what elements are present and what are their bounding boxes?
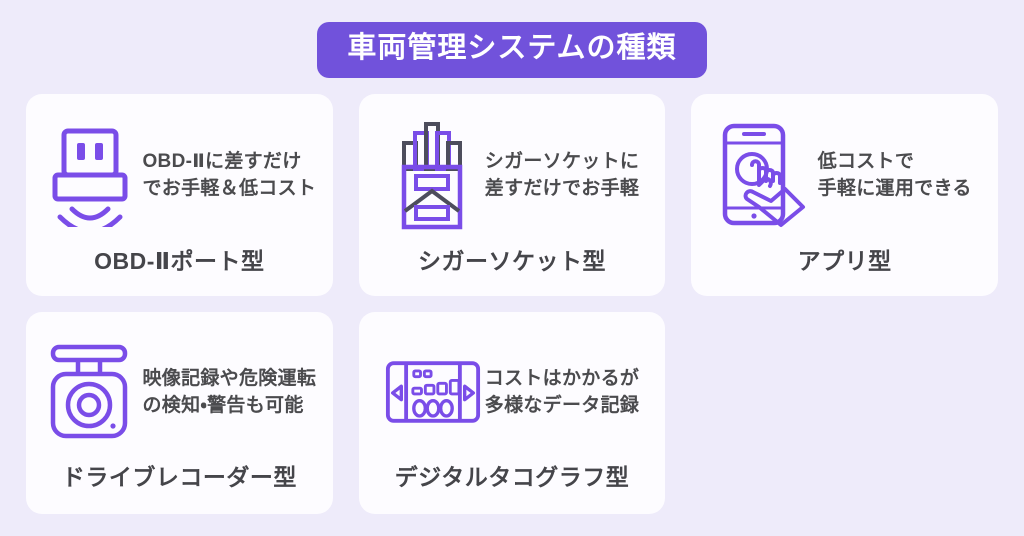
- card-top-cigarette-socket: シガーソケットに 差すだけでお手軽: [359, 94, 666, 248]
- card-top-app: 低コストで 手軽に運用できる: [691, 94, 998, 248]
- card-title: OBD-Ⅱポート型: [26, 248, 333, 296]
- obd-dongle-icon: [42, 119, 138, 231]
- card-obd-port[interactable]: OBD-Ⅱに差すだけ でお手軽＆低コスト OBD-Ⅱポート型: [26, 94, 333, 296]
- card-description: 低コストで 手軽に運用できる: [814, 148, 972, 203]
- card-cigarette-socket[interactable]: シガーソケットに 差すだけでお手軽 シガーソケット型: [359, 94, 666, 296]
- card-description: 映像記録や危険運転 の検知・警告も可能: [138, 365, 316, 420]
- title-banner-wrap: 車両管理システムの種類: [0, 0, 1024, 78]
- card-title: シガーソケット型: [359, 248, 666, 296]
- cigarette-pack-icon: [385, 119, 481, 231]
- card-title: アプリ型: [691, 248, 998, 296]
- card-top-dashcam: 映像記録や危険運転 の検知・警告も可能: [26, 312, 333, 464]
- card-title: デジタルタコグラフ型: [359, 464, 666, 514]
- digital-tachograph-icon: [385, 336, 481, 448]
- card-description: コストはかかるが 多様なデータ記録: [481, 365, 639, 420]
- dashcam-icon: [42, 336, 138, 448]
- card-dashcam[interactable]: 映像記録や危険運転 の検知・警告も可能 ドライブレコーダー型: [26, 312, 333, 514]
- card-description: シガーソケットに 差すだけでお手軽: [481, 148, 639, 203]
- smartphone-tap-icon: [718, 119, 814, 231]
- card-app[interactable]: 低コストで 手軽に運用できる アプリ型: [691, 94, 998, 296]
- card-digital-tachograph[interactable]: コストはかかるが 多様なデータ記録 デジタルタコグラフ型: [359, 312, 666, 514]
- card-top-digital-tachograph: コストはかかるが 多様なデータ記録: [359, 312, 666, 464]
- card-title: ドライブレコーダー型: [26, 464, 333, 514]
- card-empty-slot: [691, 312, 998, 514]
- page-title: 車両管理システムの種類: [317, 22, 706, 78]
- card-description: OBD-Ⅱに差すだけ でお手軽＆低コスト: [138, 148, 316, 203]
- infographic-root: 車両管理システムの種類 OBD-Ⅱに差すだけ でお手軽＆低コスト OBD: [0, 0, 1024, 536]
- card-top-obd-port: OBD-Ⅱに差すだけ でお手軽＆低コスト: [26, 94, 333, 248]
- card-grid: OBD-Ⅱに差すだけ でお手軽＆低コスト OBD-Ⅱポート型: [26, 94, 998, 514]
